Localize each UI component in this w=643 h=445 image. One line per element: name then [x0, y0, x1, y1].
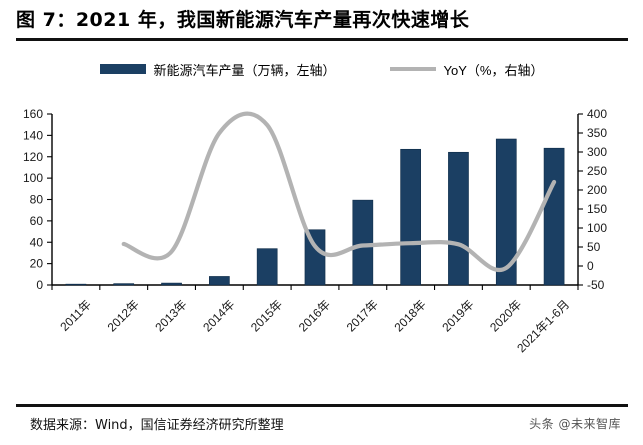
bar [448, 152, 468, 285]
y-tick-label-right: -50 [587, 278, 605, 292]
y-tick-label-left: 140 [23, 128, 43, 142]
y-tick-label-right: 400 [587, 107, 607, 121]
y-tick-label-left: 60 [30, 214, 44, 228]
x-tick-label: 2016年 [296, 297, 333, 334]
bar [401, 149, 421, 285]
bar [353, 200, 373, 285]
y-tick-label-left: 20 [30, 257, 44, 271]
y-tick-label-left: 0 [36, 278, 43, 292]
bar [162, 283, 182, 285]
x-tick-label: 2014年 [200, 297, 237, 334]
y-tick-label-right: 300 [587, 145, 607, 159]
x-tick-label: 2020年 [487, 297, 524, 334]
x-tick-label: 2011年 [57, 297, 94, 334]
y-tick-label-left: 40 [30, 235, 44, 249]
bar [257, 249, 277, 285]
x-tick-label: 2013年 [152, 297, 189, 334]
bar [209, 276, 229, 285]
legend-line-swatch-icon [390, 67, 436, 71]
y-tick-label-right: 100 [587, 221, 607, 235]
y-tick-label-right: 50 [587, 240, 601, 254]
y-tick-label-right: 250 [587, 164, 607, 178]
y-tick-label-left: 160 [23, 107, 43, 121]
x-tick-label: 2019年 [439, 297, 476, 334]
x-tick-label: 2018年 [391, 297, 428, 334]
y-tick-label-right: 350 [587, 126, 607, 140]
chart-legend: 新能源汽车产量（万辆，左轴） YoY（%，右轴） [0, 56, 643, 82]
legend-item-bar: 新能源汽车产量（万辆，左轴） [100, 60, 336, 79]
watermark-label: 头条 @未来智库 [529, 415, 621, 432]
y-tick-label-right: 0 [587, 259, 594, 273]
x-tick-label: 2017年 [344, 297, 381, 334]
legend-item-line: YoY（%，右轴） [390, 60, 544, 79]
footer-divider [16, 404, 628, 407]
source-note: 数据来源：Wind，国信证券经济研究所整理 [30, 414, 284, 433]
legend-bar-swatch-icon [100, 64, 146, 74]
y-tick-label-left: 120 [23, 150, 43, 164]
chart-plot-area: 020406080100120140160-500501001502002503… [0, 96, 643, 396]
y-tick-label-left: 80 [30, 193, 44, 207]
figure-container: 图 7：2021 年，我国新能源汽车产量再次快速增长 新能源汽车产量（万辆，左轴… [0, 0, 643, 445]
figure-title-block: 图 7：2021 年，我国新能源汽车产量再次快速增长 [16, 6, 628, 40]
title-divider [16, 38, 628, 41]
chart-svg: 020406080100120140160-500501001502002503… [0, 96, 643, 396]
bar [544, 148, 564, 285]
bar [114, 284, 134, 285]
y-tick-label-right: 200 [587, 183, 607, 197]
x-tick-label: 2012年 [105, 297, 142, 334]
legend-bar-label: 新能源汽车产量（万辆，左轴） [154, 60, 336, 79]
page-title: 图 7：2021 年，我国新能源汽车产量再次快速增长 [16, 6, 628, 34]
y-tick-label-right: 150 [587, 202, 607, 216]
bar [66, 284, 86, 285]
x-tick-label: 2015年 [248, 297, 285, 334]
yoy-line-series [124, 114, 554, 270]
legend-line-label: YoY（%，右轴） [444, 60, 544, 79]
y-tick-label-left: 100 [23, 171, 43, 185]
